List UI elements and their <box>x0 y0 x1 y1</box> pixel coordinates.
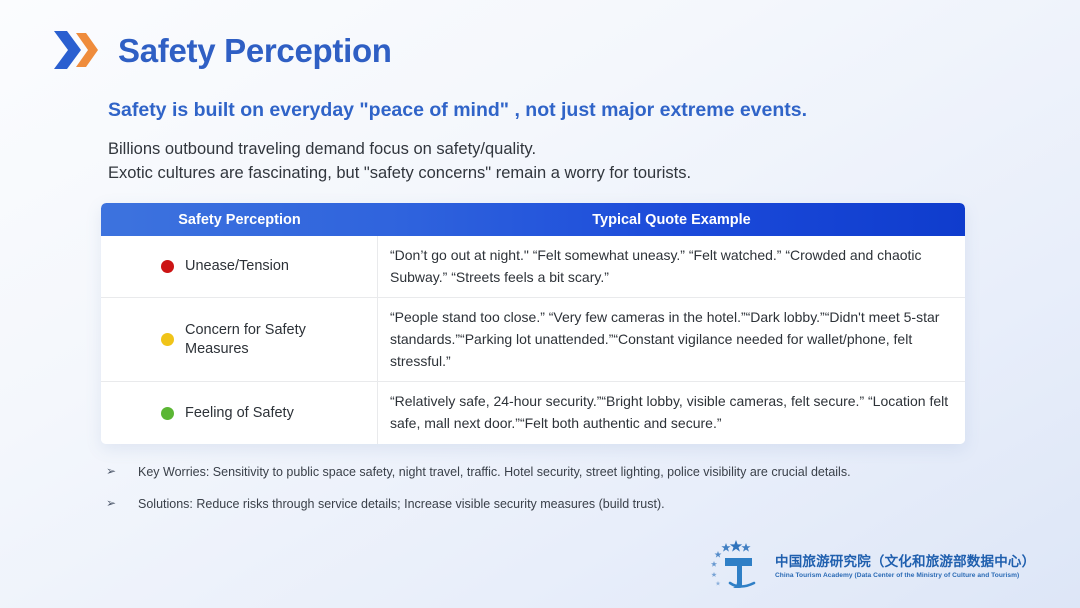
cell-quote: “Relatively safe, 24-hour security.”“Bri… <box>378 382 965 443</box>
status-dot-icon <box>161 407 174 420</box>
status-dot-icon <box>161 333 174 346</box>
note-text: Key Worries: Sensitivity to public space… <box>138 464 851 481</box>
list-item: ➢ Solutions: Reduce risks through servic… <box>106 496 946 513</box>
cell-quote: “People stand too close.” “Very few came… <box>378 298 965 381</box>
lead-line-2: Exotic cultures are fascinating, but "sa… <box>108 161 691 185</box>
column-header-safety-perception: Safety Perception <box>101 203 378 236</box>
category-label: Unease/Tension <box>185 257 289 276</box>
table-row: Feeling of Safety “Relatively safe, 24-h… <box>101 382 965 443</box>
organization-logo: 中国旅游研究院（文化和旅游部数据中心） China Tourism Academ… <box>706 536 1035 592</box>
lead-line-1: Billions outbound traveling demand focus… <box>108 137 691 161</box>
category-label: Concern for Safety Measures <box>185 321 367 359</box>
takeaway-notes: ➢ Key Worries: Sensitivity to public spa… <box>106 464 946 528</box>
organization-name-block: 中国旅游研究院（文化和旅游部数据中心） China Tourism Academ… <box>775 550 1035 579</box>
organization-name-en: China Tourism Academy (Data Center of th… <box>775 572 1035 579</box>
page-title: Safety Perception <box>118 34 392 67</box>
table-body: Unease/Tension “Don’t go out at night." … <box>101 236 965 444</box>
double-chevron-icon <box>48 26 104 74</box>
table-header-row: Safety Perception Typical Quote Example <box>101 203 965 236</box>
safety-perception-table: Safety Perception Typical Quote Example … <box>101 203 965 444</box>
organization-name-cn: 中国旅游研究院（文化和旅游部数据中心） <box>775 550 1035 570</box>
note-text: Solutions: Reduce risks through service … <box>138 496 665 513</box>
table-row: Concern for Safety Measures “People stan… <box>101 298 965 382</box>
arrow-bullet-icon: ➢ <box>106 464 138 480</box>
category-label: Feeling of Safety <box>185 404 294 423</box>
section-subtitle: Safety is built on everyday "peace of mi… <box>108 99 807 122</box>
page-header: Safety Perception <box>48 26 392 74</box>
column-header-typical-quote: Typical Quote Example <box>378 203 965 236</box>
list-item: ➢ Key Worries: Sensitivity to public spa… <box>106 464 946 481</box>
cell-category: Concern for Safety Measures <box>101 298 378 381</box>
table-row: Unease/Tension “Don’t go out at night." … <box>101 236 965 298</box>
cell-category: Unease/Tension <box>101 236 378 297</box>
cell-category: Feeling of Safety <box>101 382 378 443</box>
arrow-bullet-icon: ➢ <box>106 496 138 512</box>
status-dot-icon <box>161 260 174 273</box>
lead-paragraph: Billions outbound traveling demand focus… <box>108 137 691 186</box>
cell-quote: “Don’t go out at night." “Felt somewhat … <box>378 236 965 297</box>
china-tourism-academy-logo-icon <box>706 536 766 592</box>
